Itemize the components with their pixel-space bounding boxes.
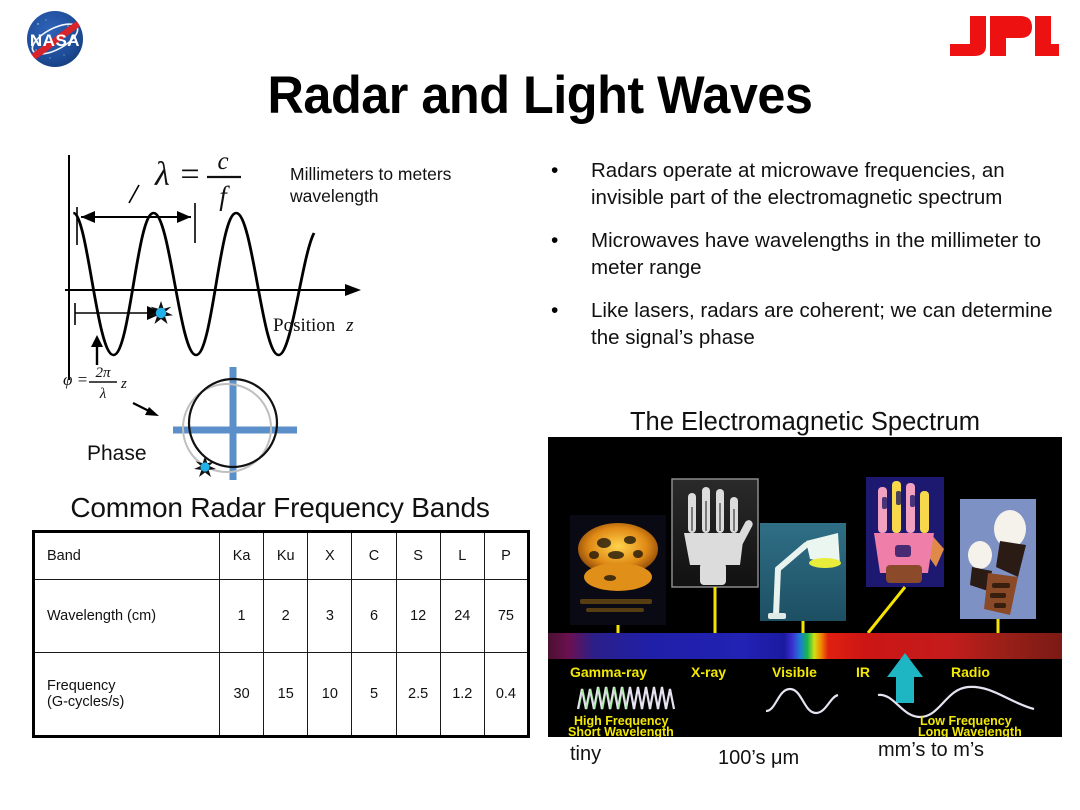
nasa-meatball-icon: NASA [12, 8, 98, 70]
svg-text:Gamma-ray: Gamma-ray [570, 664, 647, 680]
bullet-text: Microwaves have wavelengths in the milli… [591, 228, 1065, 281]
cell-band-2: X [308, 532, 352, 580]
svg-text:IR: IR [856, 664, 870, 680]
list-item: • Microwaves have wavelengths in the mil… [545, 228, 1065, 281]
cell-frequency-6: 0.4 [484, 653, 528, 737]
svg-text:φ =: φ = [63, 370, 88, 389]
spectrum-panel-ir [866, 477, 944, 587]
cell-wavelength-0: 1 [220, 580, 264, 653]
svg-text:z: z [120, 376, 127, 392]
cell-wavelength-2: 3 [308, 580, 352, 653]
cell-wavelength-3: 6 [352, 580, 396, 653]
phase-equation: φ = 2π λ z [63, 365, 127, 402]
cell-wavelength-4: 12 [396, 580, 440, 653]
axis-label-position: Position z [273, 315, 354, 336]
slide-canvas: NASA Radar and Light Waves [0, 0, 1080, 810]
cell-frequency-5: 1.2 [440, 653, 484, 737]
wave-caption: Millimeters to meters wavelength [290, 163, 505, 208]
table-row: Band Ka Ku X C S L P [34, 532, 529, 580]
bullet-dot-icon: • [545, 158, 591, 184]
svg-text:Radio: Radio [951, 664, 990, 680]
svg-text:NASA: NASA [30, 31, 80, 50]
spectrum-panel-gamma [570, 515, 666, 625]
bullet-text: Radars operate at microwave frequencies,… [591, 158, 1065, 211]
cell-band-5: L [440, 532, 484, 580]
spectrum-caption-row: tiny 100’s μm mm’s to m’s [548, 739, 1062, 779]
table-heading: Common Radar Frequency Bands [30, 492, 530, 524]
cell-frequency-2: 10 [308, 653, 352, 737]
spectrum-heading: The Electromagnetic Spectrum [545, 408, 1065, 437]
spectrum-caption-tiny: tiny [570, 743, 601, 766]
svg-text:f: f [219, 181, 230, 211]
cell-frequency-3: 5 [352, 653, 396, 737]
cell-frequency-0: 30 [220, 653, 264, 737]
cell-wavelength-5: 24 [440, 580, 484, 653]
cell-wavelength-6: 75 [484, 580, 528, 653]
spectrum-panel-xray [672, 479, 758, 587]
spectrum-gradient-bar [548, 633, 1062, 659]
row-label-frequency-line2: (G-cycles/s) [47, 694, 215, 710]
svg-text:Visible: Visible [772, 664, 817, 680]
svg-text:λ: λ [99, 386, 107, 402]
table-row: Wavelength (cm) 1 2 3 6 12 24 75 [34, 580, 529, 653]
phase-circle-diagram [173, 367, 297, 480]
row-label-band: Band [34, 532, 220, 580]
cell-frequency-4: 2.5 [396, 653, 440, 737]
row-label-frequency-line1: Frequency [47, 678, 215, 694]
list-item: • Radars operate at microwave frequencie… [545, 158, 1065, 211]
cell-band-6: P [484, 532, 528, 580]
row-label-frequency: Frequency (G-cycles/s) [34, 653, 220, 737]
cell-wavelength-1: 2 [264, 580, 308, 653]
bullet-dot-icon: • [545, 228, 591, 254]
svg-text:2π: 2π [95, 365, 111, 381]
cell-frequency-1: 15 [264, 653, 308, 737]
spectrum-caption-microns: 100’s μm [718, 747, 799, 770]
jpl-logo [940, 10, 1060, 62]
row-label-wavelength: Wavelength (cm) [34, 580, 220, 653]
table-row: Frequency (G-cycles/s) 30 15 10 5 2.5 1.… [34, 653, 529, 737]
cell-band-0: Ka [220, 532, 264, 580]
svg-text:X-ray: X-ray [691, 664, 726, 680]
spectrum-panel-radio [960, 499, 1036, 619]
spectrum-panel-visible [760, 523, 846, 621]
cell-band-4: S [396, 532, 440, 580]
wavelength-equation: λ = c f [154, 148, 241, 211]
page-title: Radar and Light Waves [27, 68, 1053, 124]
svg-text:Long Wavelength: Long Wavelength [918, 725, 1022, 737]
cell-band-1: Ku [264, 532, 308, 580]
electromagnetic-spectrum-image: Gamma-ray X-ray Visible IR Radio Hi [548, 437, 1062, 737]
bullet-text: Like lasers, radars are coherent; we can… [591, 298, 1065, 351]
list-item: • Like lasers, radars are coherent; we c… [545, 298, 1065, 351]
svg-text:Short Wavelength: Short Wavelength [568, 725, 674, 737]
svg-text:c: c [217, 148, 228, 175]
cell-band-3: C [352, 532, 396, 580]
radar-frequency-table: Band Ka Ku X C S L P Wavelength (cm) 1 2… [32, 530, 530, 738]
svg-text:λ =: λ = [154, 156, 201, 193]
phase-label: Phase [87, 442, 147, 465]
spectrum-caption-mm-to-m: mm’s to m’s [878, 739, 984, 762]
bullet-dot-icon: • [545, 298, 591, 324]
bullet-list: • Radars operate at microwave frequencie… [545, 158, 1065, 368]
